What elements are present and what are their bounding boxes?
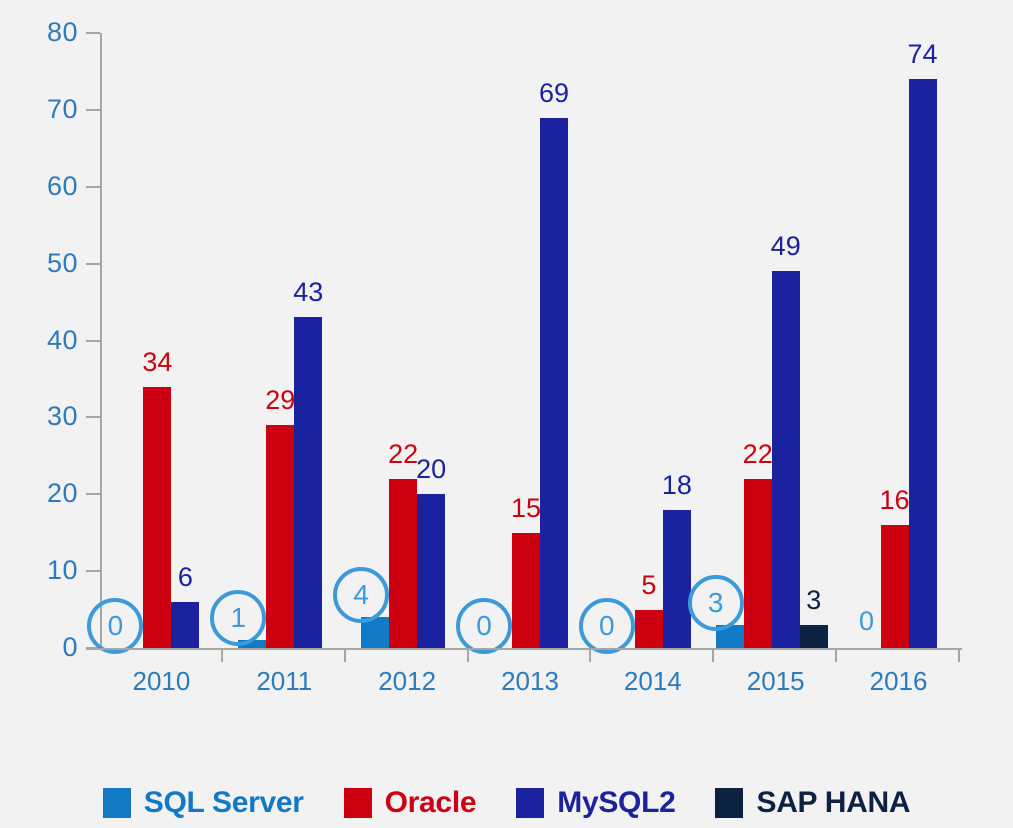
y-axis-tick-mark (86, 263, 100, 265)
bar-mysql2-2016[interactable] (909, 79, 937, 648)
y-axis-tick-mark (86, 416, 100, 418)
y-axis-tick-mark (86, 340, 100, 342)
legend-item-mysql2[interactable]: MySQL2 (516, 788, 675, 818)
y-axis-tick-mark (86, 32, 100, 34)
chart-legend: SQL ServerOracleMySQL2SAP HANA (0, 778, 1013, 828)
y-axis-tick-label: 60 (16, 173, 78, 200)
value-label-mysql2-2016: 74 (893, 41, 953, 68)
value-label-oracle-2013: 15 (496, 495, 556, 522)
value-label-oracle-2016: 16 (865, 487, 925, 514)
y-axis-tick-label: 20 (16, 480, 78, 507)
x-axis-tick-mark (221, 648, 223, 662)
bar-oracle-2013[interactable] (512, 533, 540, 648)
annotation-value: 4 (337, 571, 385, 619)
annotation-value: 0 (583, 602, 631, 650)
y-axis-labels: 80706050403020100 (0, 0, 78, 828)
legend-item-sql-server[interactable]: SQL Server (103, 788, 304, 818)
value-label-mysql2-2011: 43 (278, 279, 338, 306)
legend-label: SAP HANA (756, 788, 910, 818)
x-axis-tick-mark (712, 648, 714, 662)
y-axis-tick-mark (86, 570, 100, 572)
x-axis-line (86, 648, 962, 650)
y-axis-tick-mark (86, 186, 100, 188)
bar-oracle-2012[interactable] (389, 479, 417, 648)
bar-mysql2-2010[interactable] (171, 602, 199, 648)
circled-annotation-sql-server-2013: 0 (456, 598, 512, 654)
bar-oracle-2011[interactable] (266, 425, 294, 648)
square-swatch (516, 788, 544, 818)
x-axis-tick-label-2016: 2016 (839, 668, 959, 694)
y-axis-tick-label: 30 (16, 403, 78, 430)
bar-oracle-2014[interactable] (635, 610, 663, 648)
legend-item-sap-hana[interactable]: SAP HANA (715, 788, 910, 818)
value-label-oracle-2011: 29 (250, 387, 310, 414)
y-axis-tick-label: 70 (16, 96, 78, 123)
circled-annotation-sql-server-2015: 3 (688, 575, 744, 631)
legend-label: MySQL2 (557, 788, 675, 818)
x-axis-tick-label-2014: 2014 (593, 668, 713, 694)
square-swatch (344, 788, 372, 818)
x-axis-tick-label-2013: 2013 (470, 668, 590, 694)
plot-area (100, 33, 960, 648)
x-axis-tick-label-2012: 2012 (347, 668, 467, 694)
value-label-sap-hana-2015: 3 (784, 587, 844, 614)
circled-annotation-sql-server-2011: 1 (210, 590, 266, 646)
bar-chart: 80706050403020100 3460294312220415690518… (0, 0, 1013, 828)
square-swatch (103, 788, 131, 818)
x-axis-tick-mark (835, 648, 837, 662)
x-axis-tick-label-2011: 2011 (224, 668, 344, 694)
bar-sap-hana-2015[interactable] (800, 625, 828, 648)
circled-annotation-sql-server-2010: 0 (87, 598, 143, 654)
y-axis-tick-label: 50 (16, 250, 78, 277)
value-label-sql-server-2016: 0 (837, 608, 897, 635)
annotation-value: 1 (214, 594, 262, 642)
circled-annotation-sql-server-2012: 4 (333, 567, 389, 623)
x-axis-tick-mark (467, 648, 469, 662)
value-label-mysql2-2014: 18 (647, 472, 707, 499)
bar-oracle-2015[interactable] (744, 479, 772, 648)
legend-item-oracle[interactable]: Oracle (344, 788, 477, 818)
x-axis-tick-mark (958, 648, 960, 662)
x-axis-tick-label-2015: 2015 (716, 668, 836, 694)
value-label-oracle-2014: 5 (619, 572, 679, 599)
y-axis-tick-label: 10 (16, 557, 78, 584)
value-label-mysql2-2015: 49 (756, 233, 816, 260)
y-axis-tick-label: 0 (16, 634, 78, 661)
value-label-mysql2-2013: 69 (524, 80, 584, 107)
value-label-oracle-2015: 22 (728, 441, 788, 468)
x-axis-tick-label-2010: 2010 (101, 668, 221, 694)
bar-mysql2-2011[interactable] (294, 317, 322, 648)
bar-mysql2-2012[interactable] (417, 494, 445, 648)
value-label-oracle-2010: 34 (127, 349, 187, 376)
x-axis-tick-mark (344, 648, 346, 662)
bar-oracle-2010[interactable] (143, 387, 171, 648)
annotation-value: 0 (460, 602, 508, 650)
legend-label: SQL Server (144, 788, 304, 818)
x-axis-tick-mark (589, 648, 591, 662)
circled-annotation-sql-server-2014: 0 (579, 598, 635, 654)
y-axis-tick-mark (86, 109, 100, 111)
annotation-value: 0 (91, 602, 139, 650)
y-axis-tick-mark (86, 493, 100, 495)
value-label-mysql2-2010: 6 (155, 564, 215, 591)
square-swatch (715, 788, 743, 818)
bar-mysql2-2013[interactable] (540, 118, 568, 648)
annotation-value: 3 (692, 579, 740, 627)
value-label-mysql2-2012: 20 (401, 456, 461, 483)
y-axis-tick-label: 80 (16, 19, 78, 46)
legend-label: Oracle (385, 788, 477, 818)
y-axis-tick-label: 40 (16, 327, 78, 354)
